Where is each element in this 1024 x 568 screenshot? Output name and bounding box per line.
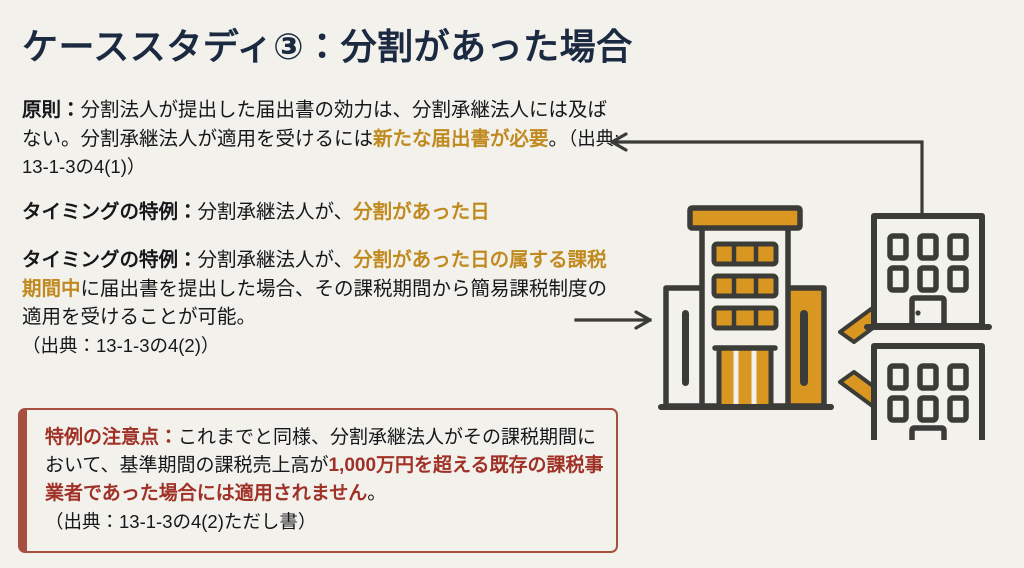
paragraph-timing-1: タイミングの特例：分割承継法人が、分割があった日 — [22, 198, 622, 227]
body-text-column: 原則：分割法人が提出した届出書の効力は、分割承継法人には及ばない。分割承継法人が… — [22, 96, 622, 360]
warning-box-lead: 特例の注意点： — [45, 427, 178, 448]
paragraph-principle-lead: 原則： — [22, 99, 81, 121]
arrow-into-main-building-icon — [576, 312, 650, 328]
slide-root: ケーススタディ③：分割があった場合 原則：分割法人が提出した届出書の効力は、分割… — [0, 0, 1024, 568]
successor-building-bottom-icon — [874, 346, 982, 440]
paragraph-timing-1-highlight: 分割があった日 — [353, 201, 490, 223]
paragraph-timing-2-text-1: 分割承継法人が、 — [198, 249, 354, 271]
paragraph-timing-2-source: （出典：13-1-3の4(2)） — [22, 335, 219, 356]
paragraph-timing-2-lead: タイミングの特例： — [22, 249, 198, 271]
paragraph-timing-2-text-2: に届出書を提出した場合、その課税期間から簡易課税制度の適用を受けることが可能。 — [22, 278, 607, 329]
warning-box-source: （出典：13-1-3の4(2)ただし書） — [45, 511, 316, 532]
successor-building-top-icon — [864, 216, 992, 330]
split-diagram — [566, 120, 1024, 440]
paragraph-principle: 原則：分割法人が提出した届出書の効力は、分割承継法人には及ばない。分割承継法人が… — [22, 96, 622, 182]
paragraph-timing-1-lead: タイミングの特例： — [22, 201, 198, 223]
connector-notification-arrow — [612, 134, 922, 216]
warning-box: 特例の注意点：これまでと同様、分割承継法人がその課税期間において、基準期間の課税… — [18, 408, 618, 553]
warning-box-text-2: 。 — [367, 483, 386, 504]
main-building-icon — [658, 208, 834, 410]
paragraph-timing-2: タイミングの特例：分割承継法人が、分割があった日の属する課税期間中に届出書を提出… — [22, 246, 622, 360]
paragraph-principle-highlight: 新たな届出書が必要 — [373, 128, 549, 150]
paragraph-timing-1-text-1: 分割承継法人が、 — [198, 201, 354, 223]
warning-box-text: 特例の注意点：これまでと同様、分割承継法人がその課税期間において、基準期間の課税… — [45, 424, 604, 537]
page-title: ケーススタディ③：分割があった場合 — [22, 18, 633, 70]
